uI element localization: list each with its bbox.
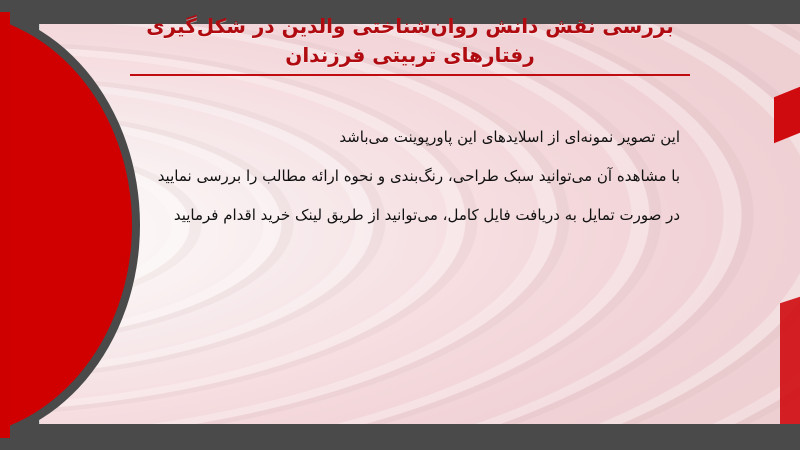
body-paragraph-line-1: این تصویر نمونه‌ای از اسلایدهای این پاور… <box>110 118 680 157</box>
body-paragraph-line-2: با مشاهده آن می‌توانید سبک طراحی، رنگ‌بن… <box>110 157 680 196</box>
left-red-lens-fill <box>0 12 10 438</box>
presentation-slide: بررسی نقش دانش روان‌شناختی والدین در شکل… <box>0 0 800 450</box>
bottom-frame-bar <box>0 424 800 450</box>
slide-title-line-1: بررسی نقش دانش روان‌شناختی والدین در شکل… <box>130 12 690 41</box>
title-underline-rule <box>130 74 690 76</box>
slide-title-line-2: رفتارهای تربیتی فرزندان <box>130 41 690 70</box>
slide-title: بررسی نقش دانش روان‌شناختی والدین در شکل… <box>130 12 690 70</box>
slide-body-text: این تصویر نمونه‌ای از اسلایدهای این پاور… <box>110 118 680 235</box>
body-paragraph-line-3: در صورت تمایل به دریافت فایل کامل، می‌تو… <box>110 196 680 235</box>
